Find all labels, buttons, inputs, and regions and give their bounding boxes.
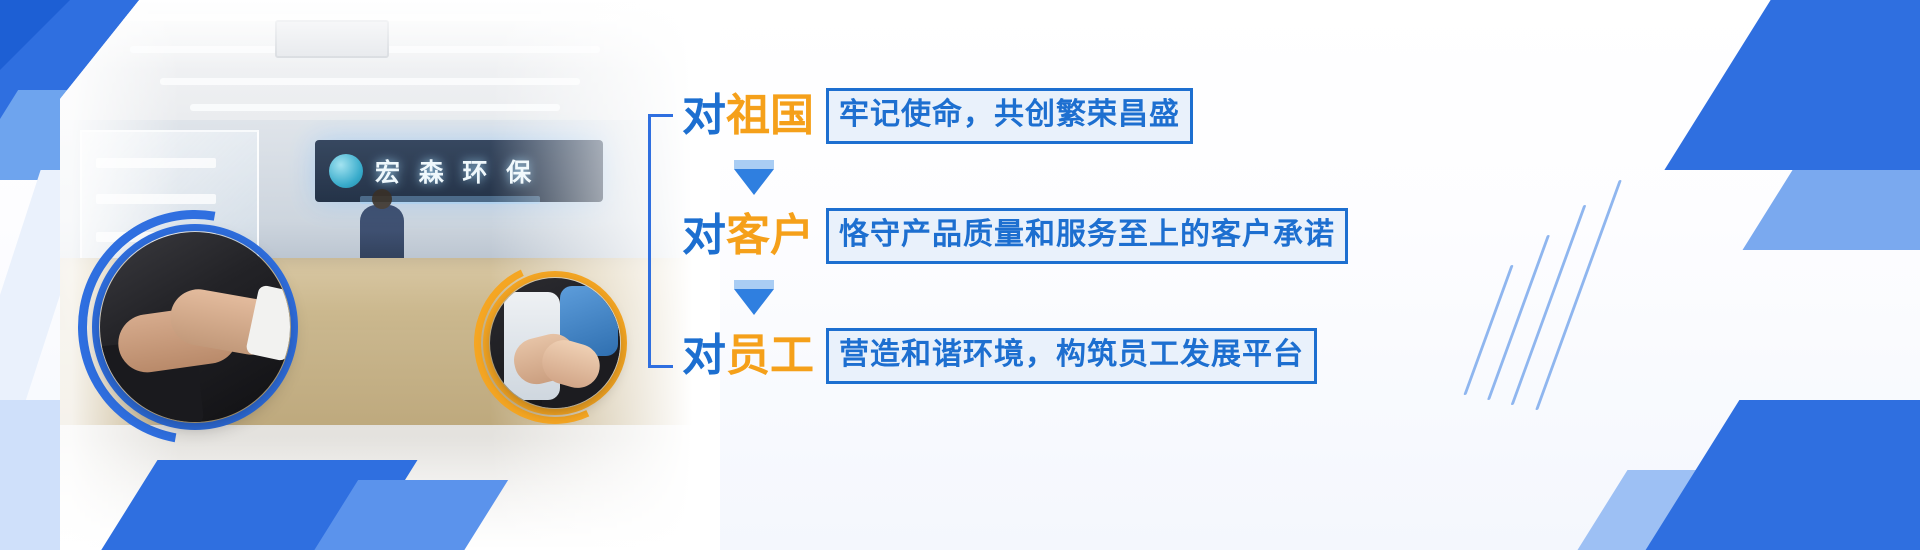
slogan-lead-3-blue: 对: [682, 330, 726, 381]
slogan-lead-3: 对员工: [682, 334, 814, 378]
decor-shape-right-3: [1621, 400, 1920, 550]
slogan-lead-2-blue: 对: [682, 210, 726, 261]
decor-shape-right-5: [1558, 520, 1692, 550]
team-circle-photo: [490, 278, 620, 408]
decor-shape-right-4: [1553, 470, 1808, 550]
slogan-statement-2: 恪守产品质量和服务至上的客户承诺: [826, 208, 1348, 264]
slogan-row-2: 对客户 恪守产品质量和服务至上的客户承诺: [682, 208, 1348, 264]
slogan-lead-1-orange: 祖国: [726, 90, 814, 141]
handshake-circle-photo: [100, 232, 290, 422]
slogan-group: 对祖国 牢记使命，共创繁荣昌盛 对客户 恪守产品质量和服务至上的客户承诺 对员工…: [648, 88, 1448, 388]
slogan-lead-2-orange: 客户: [726, 210, 814, 261]
slogan-lead-1: 对祖国: [682, 94, 814, 138]
decor-line-4: [1463, 265, 1513, 395]
decor-shape-right-1: [1664, 0, 1920, 170]
company-culture-banner: 宏 森 环 保 对祖国 牢记使命，共创繁荣昌盛 对客: [0, 0, 1920, 550]
slogan-row-3: 对员工 营造和谐环境，构筑员工发展平台: [682, 328, 1317, 384]
slogan-statement-1: 牢记使命，共创繁荣昌盛: [826, 88, 1193, 144]
company-logo-icon: [329, 154, 363, 188]
slogan-statement-3: 营造和谐环境，构筑员工发展平台: [826, 328, 1317, 384]
slogan-lead-2: 对客户: [682, 214, 814, 258]
bracket-connector: [648, 114, 673, 368]
decor-line-3: [1487, 235, 1550, 400]
slogan-lead-1-blue: 对: [682, 90, 726, 141]
slogan-row-1: 对祖国 牢记使命，共创繁荣昌盛: [682, 88, 1193, 144]
decor-line-1: [1535, 180, 1622, 410]
decor-shape-right-2: [1743, 130, 1920, 250]
slogan-lead-3-orange: 员工: [726, 330, 814, 381]
